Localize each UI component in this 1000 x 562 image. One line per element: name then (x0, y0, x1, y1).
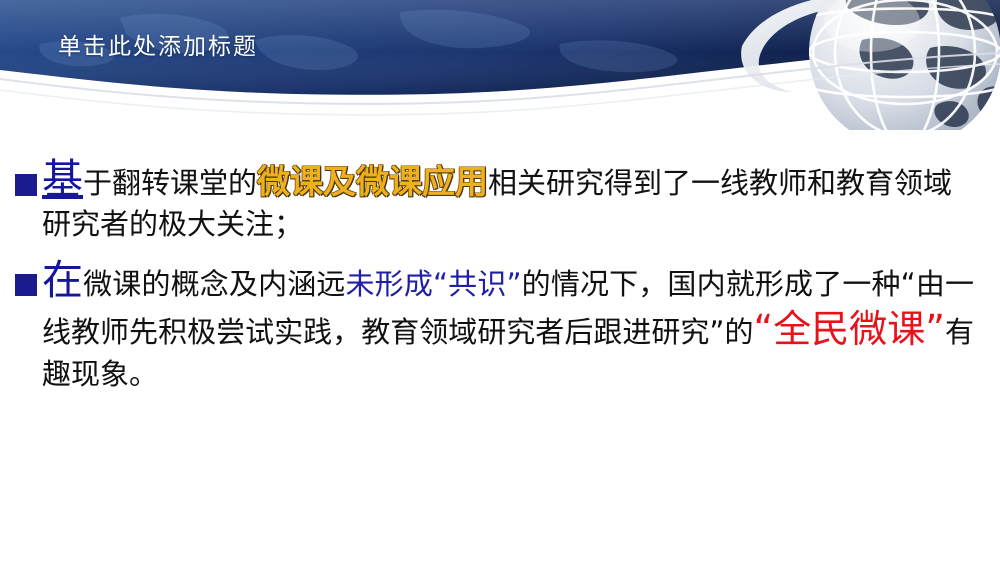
slide-header-banner: 单击此处添加标题 (0, 0, 1000, 130)
bullet-1-paragraph: 基于翻转课堂的微课及微课应用相关研究得到了一线教师和教育领域研究者的极大关注； (42, 160, 974, 244)
bullet-1-run-black-1: 于翻转课堂的 (83, 166, 257, 200)
bullet-2-run-blue-2: “共识” (433, 267, 522, 301)
bullet-2-paragraph: 在微课的概念及内涵远未形成“共识”的情况下，国内就形成了一种“由一线教师先积极尝… (42, 262, 974, 395)
bullet-2-run-red: “全民微课” (754, 307, 945, 351)
bullet-2-run-black-1: 微课的概念及内涵远 (83, 267, 345, 301)
bullet-item-1: 基于翻转课堂的微课及微课应用相关研究得到了一线教师和教育领域研究者的极大关注； (8, 160, 974, 244)
bullet-item-2: 在微课的概念及内涵远未形成“共识”的情况下，国内就形成了一种“由一线教师先积极尝… (8, 262, 974, 395)
presentation-slide: 单击此处添加标题 基于翻转课堂的微课及微课应用相关研究得到了一线教师和教育领域研… (0, 0, 1000, 562)
bullet-2-run-blue-1: 未形成 (346, 267, 433, 301)
bullet-1-run-lead: 基 (42, 155, 83, 203)
bullet-2-run-black-4: 的 (724, 315, 753, 349)
bullet-1-run-gold: 微课及微课应用 (257, 162, 488, 201)
page-title: 单击此处添加标题 (58, 27, 258, 61)
bullet-1-run-black-2: 相关研究得到了一线教师和 (488, 166, 836, 200)
square-bullet-icon (15, 274, 37, 296)
square-bullet-icon (15, 174, 37, 196)
bullet-2-run-black-2: 的情况下，国内就形成 (522, 267, 814, 301)
bullet-2-run-lead: 在 (42, 256, 83, 304)
slide-body: 基于翻转课堂的微课及微课应用相关研究得到了一线教师和教育领域研究者的极大关注； … (0, 160, 1000, 394)
